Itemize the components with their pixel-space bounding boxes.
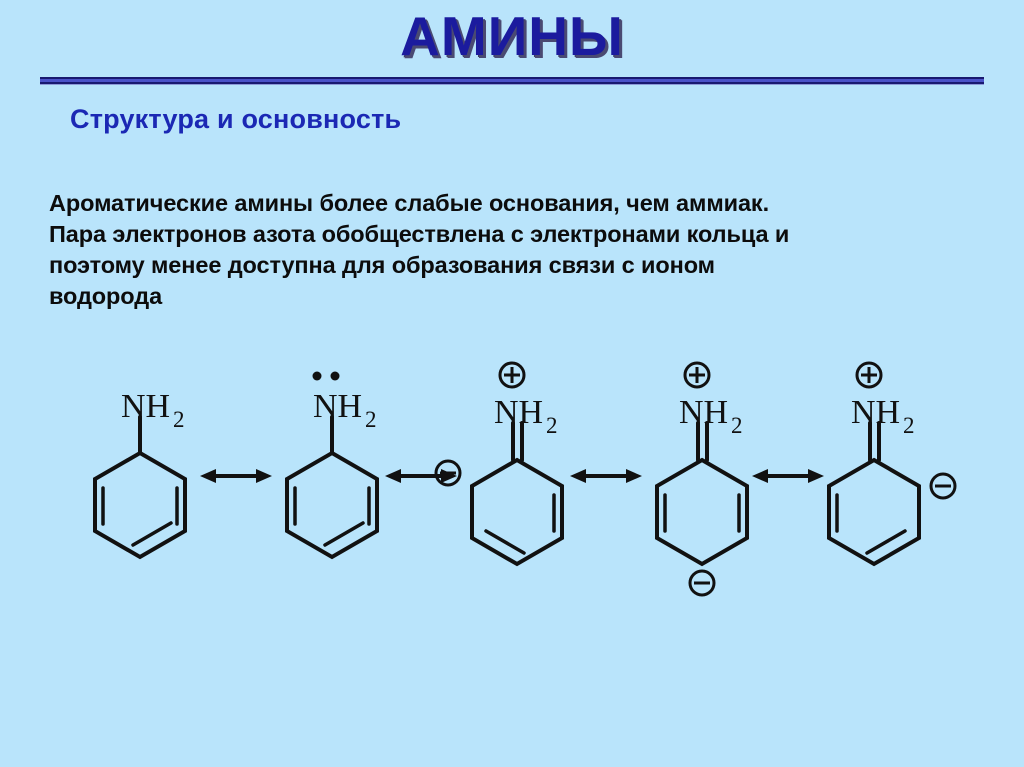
nitrogen-label: NH bbox=[851, 394, 900, 431]
resonance-arrow-3 bbox=[570, 463, 642, 489]
ring-minus-charge bbox=[690, 571, 714, 595]
body-paragraph: Ароматические амины более слабые основан… bbox=[49, 188, 959, 312]
nitrogen-plus-charge bbox=[685, 363, 709, 387]
nitrogen-plus-charge bbox=[857, 363, 881, 387]
nitrogen-subscript: 2 bbox=[731, 413, 743, 438]
nitrogen-plus-charge bbox=[500, 363, 524, 387]
nitrogen-label: NH bbox=[121, 388, 170, 425]
nitrogen-subscript: 2 bbox=[546, 413, 558, 438]
body-line-4: водорода bbox=[49, 281, 959, 312]
slide-canvas: АМИНЫ Структура и основность Ароматическ… bbox=[0, 0, 1024, 767]
nitrogen-subscript: 2 bbox=[365, 407, 377, 432]
nitrogen-label: NH bbox=[313, 388, 362, 425]
section-subtitle: Структура и основность bbox=[70, 104, 401, 135]
structure-aniline-ortho-right: NH 2 bbox=[812, 355, 987, 590]
nitrogen-subscript: 2 bbox=[173, 407, 185, 432]
nitrogen-label: NH bbox=[679, 394, 728, 431]
resonance-arrow-1 bbox=[200, 463, 272, 489]
header-divider bbox=[40, 77, 984, 86]
body-line-1: Ароматические амины более слабые основан… bbox=[49, 188, 959, 219]
ring-minus-charge bbox=[931, 474, 955, 498]
body-line-2: Пара электронов азота обобществлена с эл… bbox=[49, 219, 959, 250]
page-title: АМИНЫ bbox=[400, 8, 624, 66]
body-line-3: поэтому менее доступна для образования с… bbox=[49, 250, 959, 281]
nitrogen-subscript: 2 bbox=[903, 413, 915, 438]
lone-pair-dots bbox=[313, 372, 340, 381]
title-area: АМИНЫ bbox=[0, 8, 1024, 66]
resonance-scheme: NH 2 bbox=[0, 355, 1024, 595]
nitrogen-label: NH bbox=[494, 394, 543, 431]
divider-line-faint bbox=[40, 84, 984, 85]
